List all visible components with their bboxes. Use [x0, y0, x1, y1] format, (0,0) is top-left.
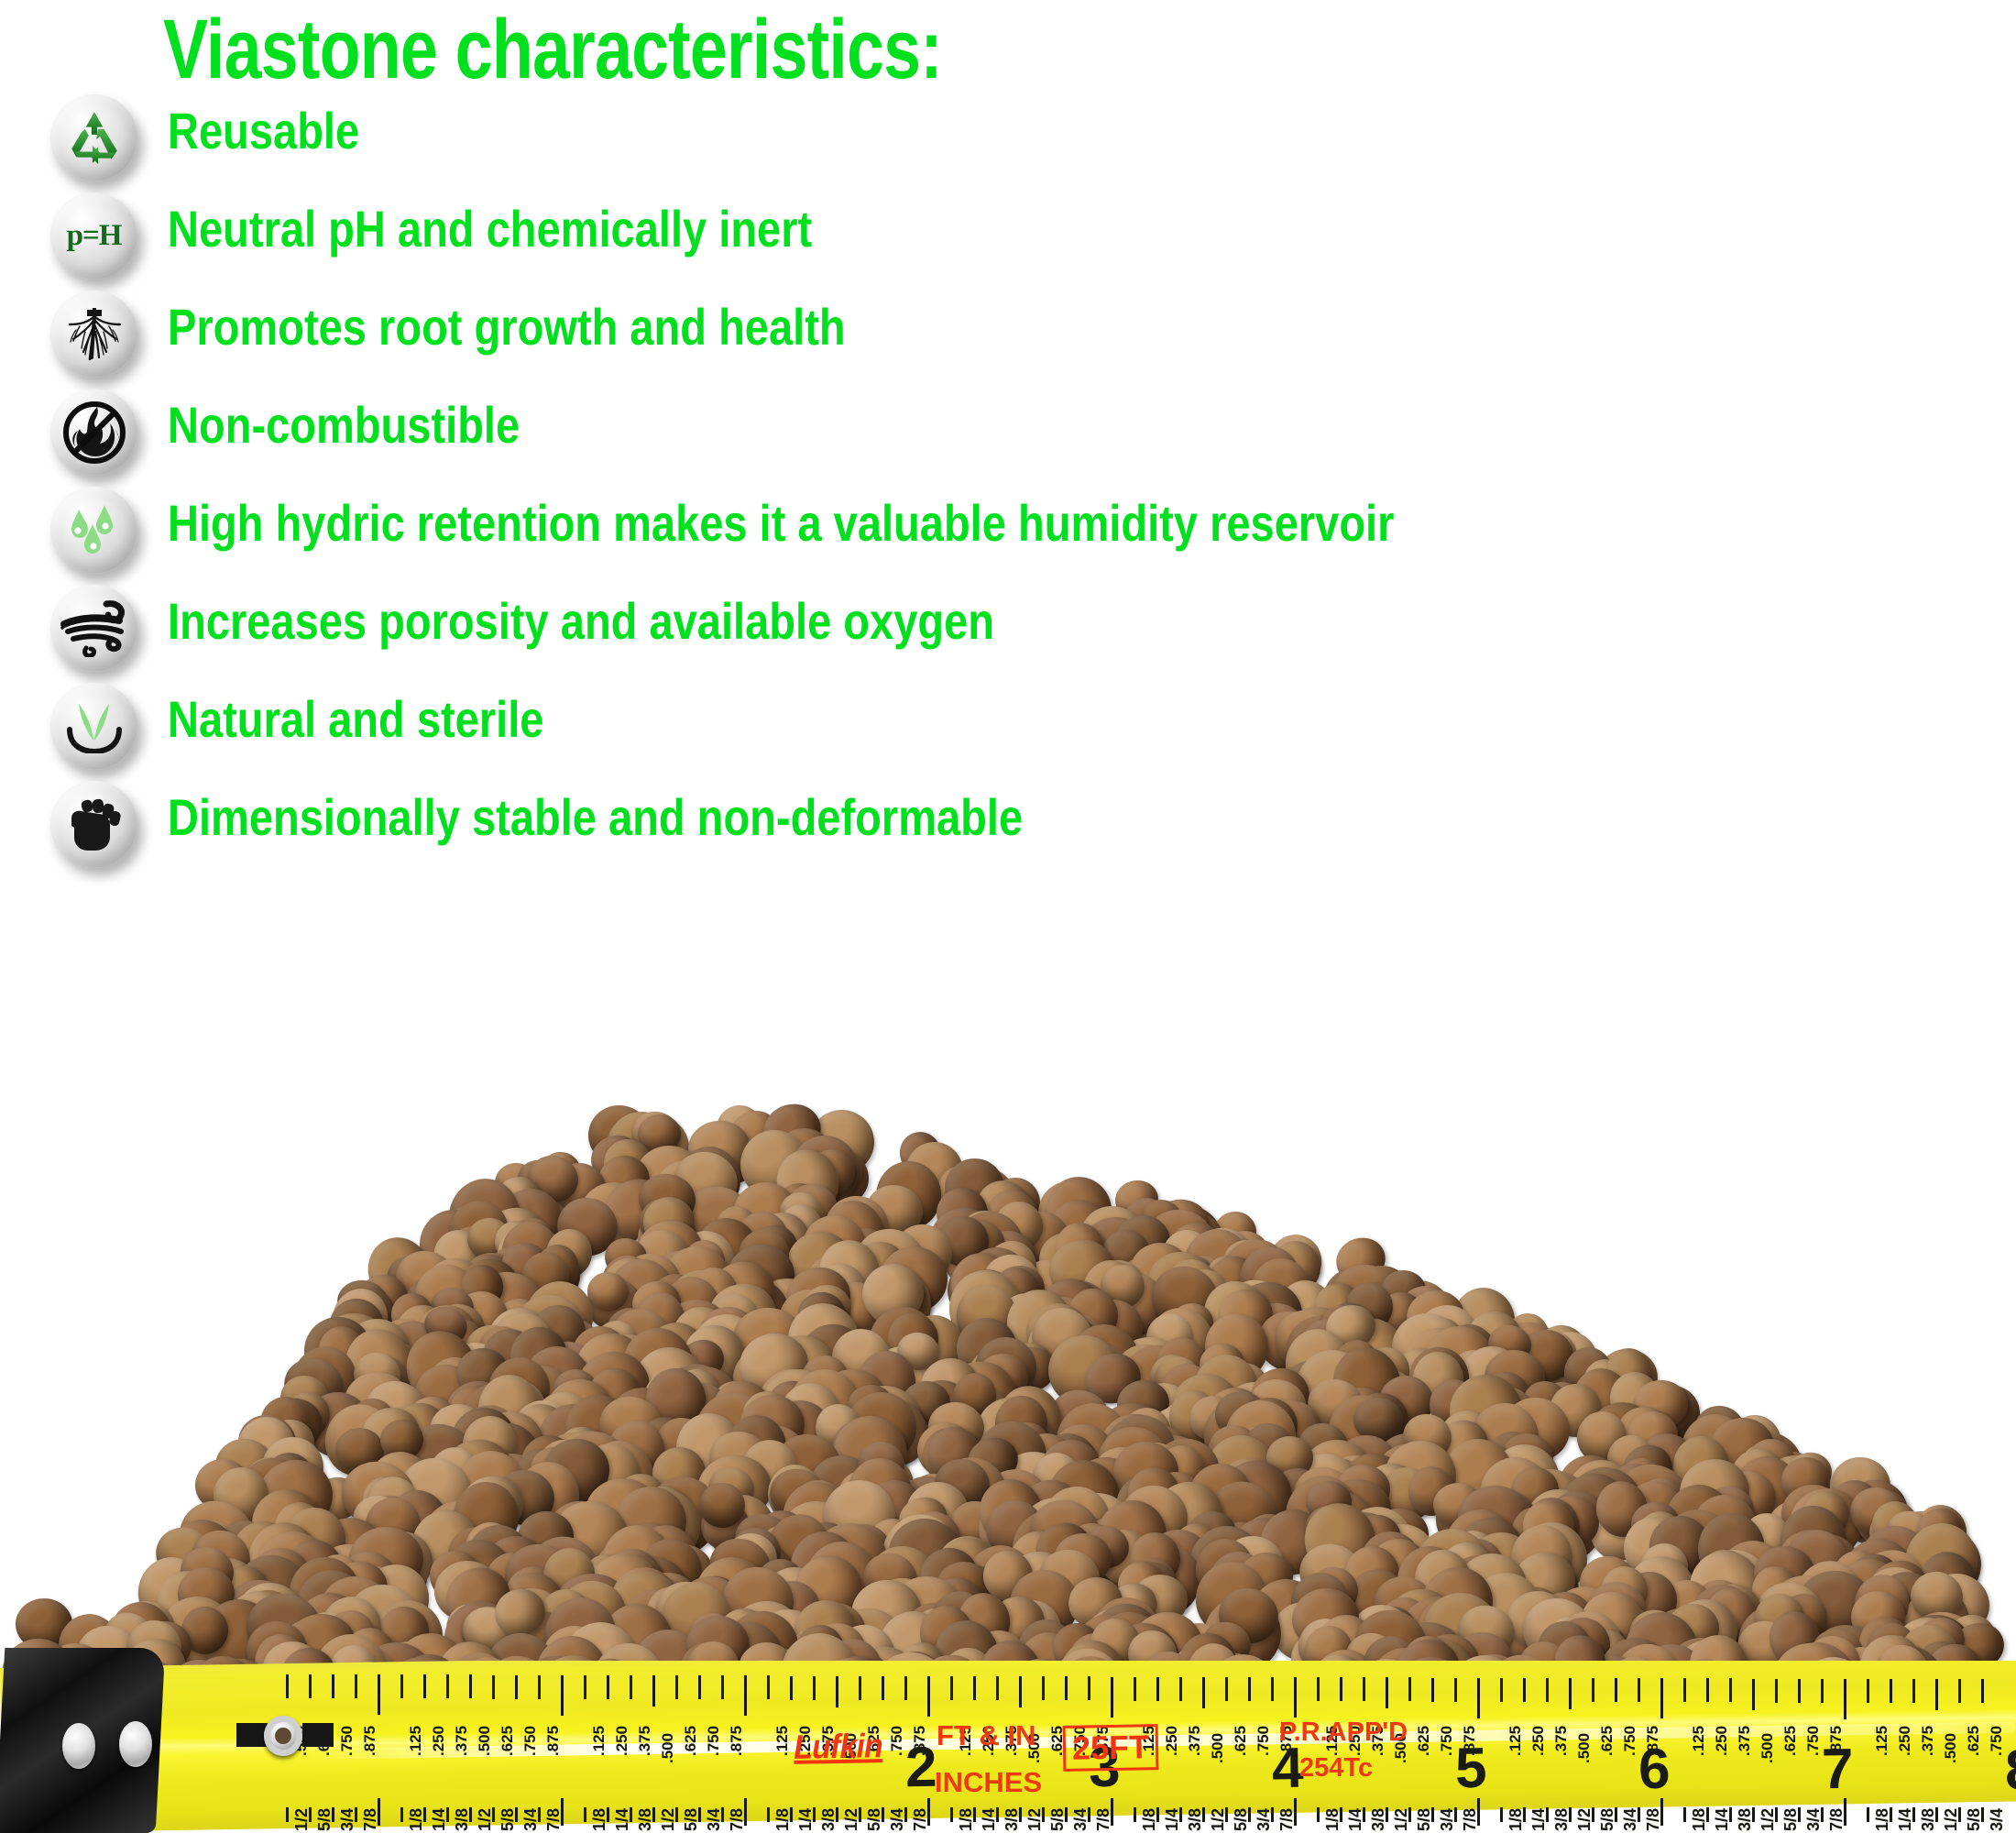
- tape-tick: [1225, 1677, 1228, 1701]
- tape-tick: [630, 1807, 632, 1822]
- tape-tick: [1317, 1677, 1320, 1701]
- tape-tick: [446, 1674, 449, 1698]
- feature-label: Increases porosity and available oxygen: [168, 595, 994, 649]
- tape-tick: [1363, 1677, 1365, 1701]
- tape-tick: [973, 1807, 976, 1822]
- tape-tick: [1065, 1807, 1068, 1822]
- fist-icon: [50, 781, 137, 868]
- tape-tick-label: .375: [1552, 1726, 1571, 1756]
- tape-tick-label: .750: [1804, 1726, 1823, 1756]
- tape-tick-label: .125: [1873, 1726, 1891, 1756]
- tape-tick-label: .125: [773, 1726, 792, 1756]
- tape-tick-label: .875: [728, 1726, 746, 1756]
- sprout-icon: [50, 683, 137, 770]
- tape-tick: [1408, 1677, 1411, 1701]
- pebble-pile-canvas: [0, 1100, 2016, 1668]
- feature-row-hydric-retention: High hydric retention makes it a valuabl…: [0, 487, 2016, 585]
- tape-tick: [904, 1807, 907, 1822]
- tape-tick: [423, 1674, 426, 1698]
- tape-tick: [1179, 1807, 1182, 1822]
- feature-row-root-growth: Promotes root growth and health: [0, 291, 2016, 389]
- tape-inch-number: 7: [1821, 1737, 1854, 1803]
- tape-tick: [469, 1674, 472, 1698]
- feature-label: Dimensionally stable and non-deformable: [168, 791, 1023, 845]
- tape-tick: [675, 1675, 678, 1699]
- recycle-icon: [50, 94, 137, 181]
- water-droplets-icon: [50, 487, 137, 574]
- tape-approval-line1: P.R.APP'D: [1279, 1718, 1408, 1748]
- tape-tick: [561, 1798, 564, 1826]
- tape-tick: [950, 1807, 953, 1822]
- tape-tick: [1408, 1807, 1411, 1822]
- tape-brand-lufkin: Lufkin: [794, 1727, 882, 1767]
- tape-tick-label: .750: [1621, 1726, 1639, 1756]
- tape-tick: [332, 1807, 334, 1822]
- tape-tick-label: .625: [682, 1726, 700, 1756]
- tape-tick: [927, 1676, 930, 1717]
- tape-screw-wing: [302, 1723, 334, 1747]
- tape-tick: [973, 1676, 976, 1700]
- tape-tick: [1431, 1807, 1434, 1822]
- tape-tick: [836, 1807, 838, 1822]
- no-fire-icon: [50, 389, 137, 476]
- feature-label: Non-combustible: [168, 399, 520, 453]
- tape-rivet: [62, 1723, 95, 1769]
- tape-tick: [630, 1675, 632, 1699]
- tape-tick: [1867, 1807, 1869, 1822]
- tape-tick: [286, 1674, 289, 1698]
- tape-tick: [950, 1676, 953, 1700]
- tape-tick: [1317, 1807, 1320, 1822]
- tape-tick: [1706, 1678, 1709, 1702]
- tape-tick: [721, 1807, 724, 1822]
- tape-tick: [515, 1807, 518, 1822]
- tape-tick-label: .500: [1759, 1733, 1777, 1763]
- tape-tick: [1981, 1807, 1984, 1822]
- tape-tick: [652, 1807, 655, 1822]
- tape-tick: [1729, 1807, 1732, 1822]
- tape-tick: [1638, 1678, 1640, 1702]
- tape-tick: [859, 1676, 861, 1700]
- tape-inch-number: 8: [2004, 1738, 2016, 1804]
- tape-tick: [355, 1807, 357, 1822]
- tape-tick: [355, 1674, 357, 1698]
- tape-tick: [859, 1807, 861, 1822]
- tape-tick-label: .375: [1186, 1726, 1204, 1756]
- page-title: Viastone characteristics:: [163, 7, 942, 92]
- tape-tick: [1981, 1679, 1984, 1703]
- tape-rivet: [119, 1721, 152, 1767]
- tape-tick: [675, 1807, 678, 1822]
- feature-label: Natural and sterile: [168, 693, 543, 747]
- tape-tick: [1477, 1678, 1480, 1718]
- tape-tick: [1386, 1807, 1388, 1822]
- tape-tick: [1821, 1807, 1824, 1822]
- feature-row-porosity: Increases porosity and available oxygen: [0, 585, 2016, 683]
- tape-tick: [1156, 1807, 1159, 1822]
- tape-tick: [446, 1807, 449, 1822]
- tape-unit-label-inches: INCHES: [935, 1766, 1042, 1799]
- tape-fraction-label: 3/4: [1988, 1808, 2007, 1831]
- tape-tick-label: .875: [361, 1726, 379, 1756]
- tape-tick: [1798, 1679, 1801, 1703]
- tape-tick-label: .500: [659, 1733, 677, 1763]
- tape-tick: [1019, 1676, 1022, 1707]
- tape-tick-label: .625: [1781, 1726, 1800, 1756]
- feature-row-neutral-ph: p=H Neutral pH and chemically inert: [0, 192, 2016, 291]
- tape-tick: [1134, 1807, 1136, 1822]
- tape-tick: [1088, 1676, 1090, 1700]
- tape-tick: [1844, 1798, 1846, 1826]
- tape-tick: [1569, 1678, 1572, 1709]
- tape-tick: [882, 1676, 884, 1700]
- tape-tick-label: .500: [476, 1726, 494, 1756]
- feature-label: Promotes root growth and health: [168, 301, 846, 355]
- tape-tick: [1156, 1677, 1159, 1701]
- tape-tick: [1958, 1679, 1961, 1703]
- tape-tick: [1294, 1798, 1297, 1826]
- tape-unit-label-ft-in: FT & IN: [937, 1719, 1036, 1752]
- tape-tick: [1729, 1678, 1732, 1702]
- tape-tick: [836, 1676, 838, 1707]
- tape-tick: [1660, 1798, 1663, 1826]
- tape-tick: [1775, 1807, 1778, 1822]
- tape-tick: [790, 1807, 793, 1822]
- tape-tick: [767, 1807, 770, 1822]
- tape-tick-label: .125: [407, 1726, 425, 1756]
- tape-tick-label: .750: [338, 1726, 356, 1756]
- tape-tick: [1752, 1679, 1755, 1710]
- tape-tick: [1706, 1807, 1709, 1822]
- tape-tick-label: .375: [453, 1726, 471, 1756]
- tape-tick: [698, 1675, 701, 1699]
- tape-tick-label: .125: [1690, 1726, 1708, 1756]
- tape-tick: [904, 1676, 907, 1700]
- tape-tick: [767, 1675, 770, 1699]
- ph-glyph: p=H: [67, 219, 122, 253]
- tape-tick: [1844, 1679, 1846, 1719]
- tape-tick-label: .750: [888, 1726, 906, 1756]
- tape-screw-wing: [236, 1723, 268, 1747]
- tape-tick: [1179, 1677, 1182, 1701]
- tape-tick: [469, 1807, 472, 1822]
- tape-tick-label: .625: [1598, 1726, 1616, 1756]
- tape-tick-label: .875: [544, 1726, 563, 1756]
- feature-row-non-combustible: Non-combustible: [0, 389, 2016, 487]
- tape-tick: [1363, 1807, 1365, 1822]
- tape-tick: [1615, 1807, 1617, 1822]
- tape-tick-label: .750: [521, 1726, 540, 1756]
- tape-tick-label: .250: [1896, 1726, 1914, 1756]
- tape-tick: [1271, 1677, 1274, 1701]
- ph-neutral-icon: p=H: [50, 192, 137, 280]
- tape-tick: [790, 1676, 793, 1700]
- tape-tick: [1019, 1807, 1022, 1822]
- tape-tick-label: .750: [1988, 1726, 2006, 1756]
- tape-tick: [1523, 1678, 1526, 1702]
- tape-tick: [744, 1798, 747, 1826]
- tape-tick: [996, 1807, 999, 1822]
- tape-tick: [1615, 1678, 1617, 1702]
- tape-tick-label: .125: [1507, 1726, 1525, 1756]
- tape-tick-label: .625: [1965, 1726, 1983, 1756]
- tape-tick-label: .625: [1232, 1726, 1250, 1756]
- tape-tick: [309, 1674, 312, 1698]
- tape-tick-label: .625: [1415, 1726, 1433, 1756]
- tape-tick: [1340, 1677, 1342, 1701]
- tape-tick: [1912, 1679, 1915, 1703]
- tape-tick: [1202, 1807, 1205, 1822]
- expanded-clay-pebbles-pile: [0, 1100, 2016, 1668]
- plant-roots-icon: [50, 291, 137, 378]
- tape-tick: [1386, 1677, 1388, 1708]
- tape-tick: [1294, 1677, 1297, 1718]
- tape-tick: [927, 1798, 930, 1826]
- tape-tick-label: .750: [1255, 1726, 1273, 1756]
- tape-tick: [584, 1807, 586, 1822]
- tape-tick: [1340, 1807, 1342, 1822]
- tape-tick-label: .125: [590, 1726, 608, 1756]
- feature-row-reusable: Reusable: [0, 94, 2016, 192]
- tape-tick-label: .500: [1209, 1733, 1227, 1763]
- tape-tick: [1271, 1807, 1274, 1822]
- tape-tick: [1248, 1807, 1251, 1822]
- tape-tick: [1660, 1678, 1663, 1718]
- tape-tick: [400, 1674, 403, 1698]
- tape-tick: [1042, 1807, 1045, 1822]
- tape-tick: [1775, 1679, 1778, 1703]
- tape-tick: [1500, 1678, 1503, 1702]
- feature-list: Reusable p=H Neutral pH and chemically i…: [0, 94, 2016, 879]
- tape-tick: [1958, 1807, 1961, 1822]
- tape-tick: [1752, 1807, 1755, 1822]
- tape-tick-label: .500: [1942, 1733, 1960, 1763]
- tape-tick: [309, 1807, 312, 1822]
- tape-tick: [538, 1807, 541, 1822]
- tape-tick: [584, 1675, 586, 1699]
- tape-tick-label: .250: [1713, 1726, 1731, 1756]
- tape-tick: [698, 1807, 701, 1822]
- tape-tick: [1431, 1678, 1434, 1702]
- tape-tick: [378, 1798, 380, 1826]
- feature-row-dimensionally-stable: Dimensionally stable and non-deformable: [0, 781, 2016, 879]
- tape-tick: [1248, 1677, 1251, 1701]
- feature-label: Neutral pH and chemically inert: [168, 203, 812, 257]
- tape-tick: [1042, 1676, 1045, 1700]
- tape-tick: [607, 1807, 609, 1822]
- tape-tick-label: .750: [1438, 1726, 1456, 1756]
- tape-tick: [744, 1675, 747, 1716]
- tape-tick: [1111, 1677, 1113, 1718]
- tape-tick: [1638, 1807, 1640, 1822]
- tape-tick: [538, 1675, 541, 1699]
- tape-tick: [1523, 1807, 1526, 1822]
- tape-tick: [1111, 1798, 1113, 1826]
- tape-tick: [607, 1675, 609, 1699]
- tape-tick: [1546, 1678, 1549, 1702]
- tape-tick: [1202, 1677, 1205, 1708]
- tape-tick: [1500, 1807, 1503, 1822]
- tape-tick: [813, 1676, 816, 1700]
- tape-tick: [378, 1674, 380, 1715]
- tape-tick: [515, 1675, 518, 1699]
- tape-tick: [492, 1807, 495, 1822]
- tape-tick: [1592, 1678, 1594, 1702]
- tape-tick: [882, 1807, 884, 1822]
- tape-tick: [1134, 1677, 1136, 1701]
- tape-tick: [1225, 1807, 1228, 1822]
- tape-tick: [721, 1675, 724, 1699]
- tape-tick-label: .375: [1736, 1726, 1754, 1756]
- tape-tick: [1592, 1807, 1594, 1822]
- tape-tick: [1867, 1679, 1869, 1703]
- tape-tick: [652, 1675, 655, 1707]
- tape-tick: [1935, 1807, 1938, 1822]
- tape-tick: [1454, 1807, 1457, 1822]
- tape-tick-label: .250: [1163, 1726, 1181, 1756]
- tape-tick: [1088, 1807, 1090, 1822]
- tape-tick: [1569, 1807, 1572, 1822]
- tape-tick: [332, 1674, 334, 1698]
- tape-inch-number: 5: [1454, 1736, 1487, 1802]
- tape-tick: [1546, 1807, 1549, 1822]
- tape-inch-number: 2: [904, 1735, 937, 1801]
- tape-tick: [561, 1675, 564, 1716]
- tape-tick: [1935, 1679, 1938, 1710]
- tape-tick: [1890, 1679, 1892, 1703]
- tape-tick: [996, 1676, 999, 1700]
- tape-tick: [423, 1807, 426, 1822]
- tape-tick: [1065, 1676, 1068, 1700]
- tape-tick: [1912, 1807, 1915, 1822]
- tape-tick: [1798, 1807, 1801, 1822]
- tape-tick-label: .375: [1919, 1726, 1937, 1756]
- tape-tick-label: .375: [636, 1726, 654, 1756]
- tape-length-badge: 25FT: [1063, 1724, 1159, 1772]
- tape-screw: [264, 1716, 302, 1756]
- tape-tick: [1477, 1798, 1480, 1826]
- wind-icon: [50, 585, 137, 672]
- tape-tick: [1454, 1678, 1457, 1702]
- feature-row-natural-sterile: Natural and sterile: [0, 683, 2016, 781]
- feature-label: Reusable: [168, 104, 359, 159]
- tape-tick-label: .250: [613, 1726, 631, 1756]
- tape-tick-label: .750: [705, 1726, 723, 1756]
- tape-tick: [1821, 1679, 1824, 1703]
- tape-tick: [400, 1807, 403, 1822]
- tape-tick-label: .250: [1529, 1726, 1548, 1756]
- tape-inch-number: 6: [1638, 1737, 1671, 1803]
- tape-tick-label: .625: [499, 1726, 517, 1756]
- tape-tick: [1683, 1678, 1686, 1702]
- tape-tick: [492, 1675, 495, 1699]
- tape-tick: [1890, 1807, 1892, 1822]
- tape-tick-label: .250: [430, 1726, 448, 1756]
- feature-label: High hydric retention makes it a valuabl…: [168, 497, 1394, 551]
- tape-tick: [813, 1807, 816, 1822]
- tape-approval-line2: 254Tc: [1299, 1753, 1373, 1784]
- tape-tick-label: .500: [1575, 1733, 1594, 1763]
- tape-tick: [286, 1807, 289, 1822]
- tape-tick: [1683, 1807, 1686, 1822]
